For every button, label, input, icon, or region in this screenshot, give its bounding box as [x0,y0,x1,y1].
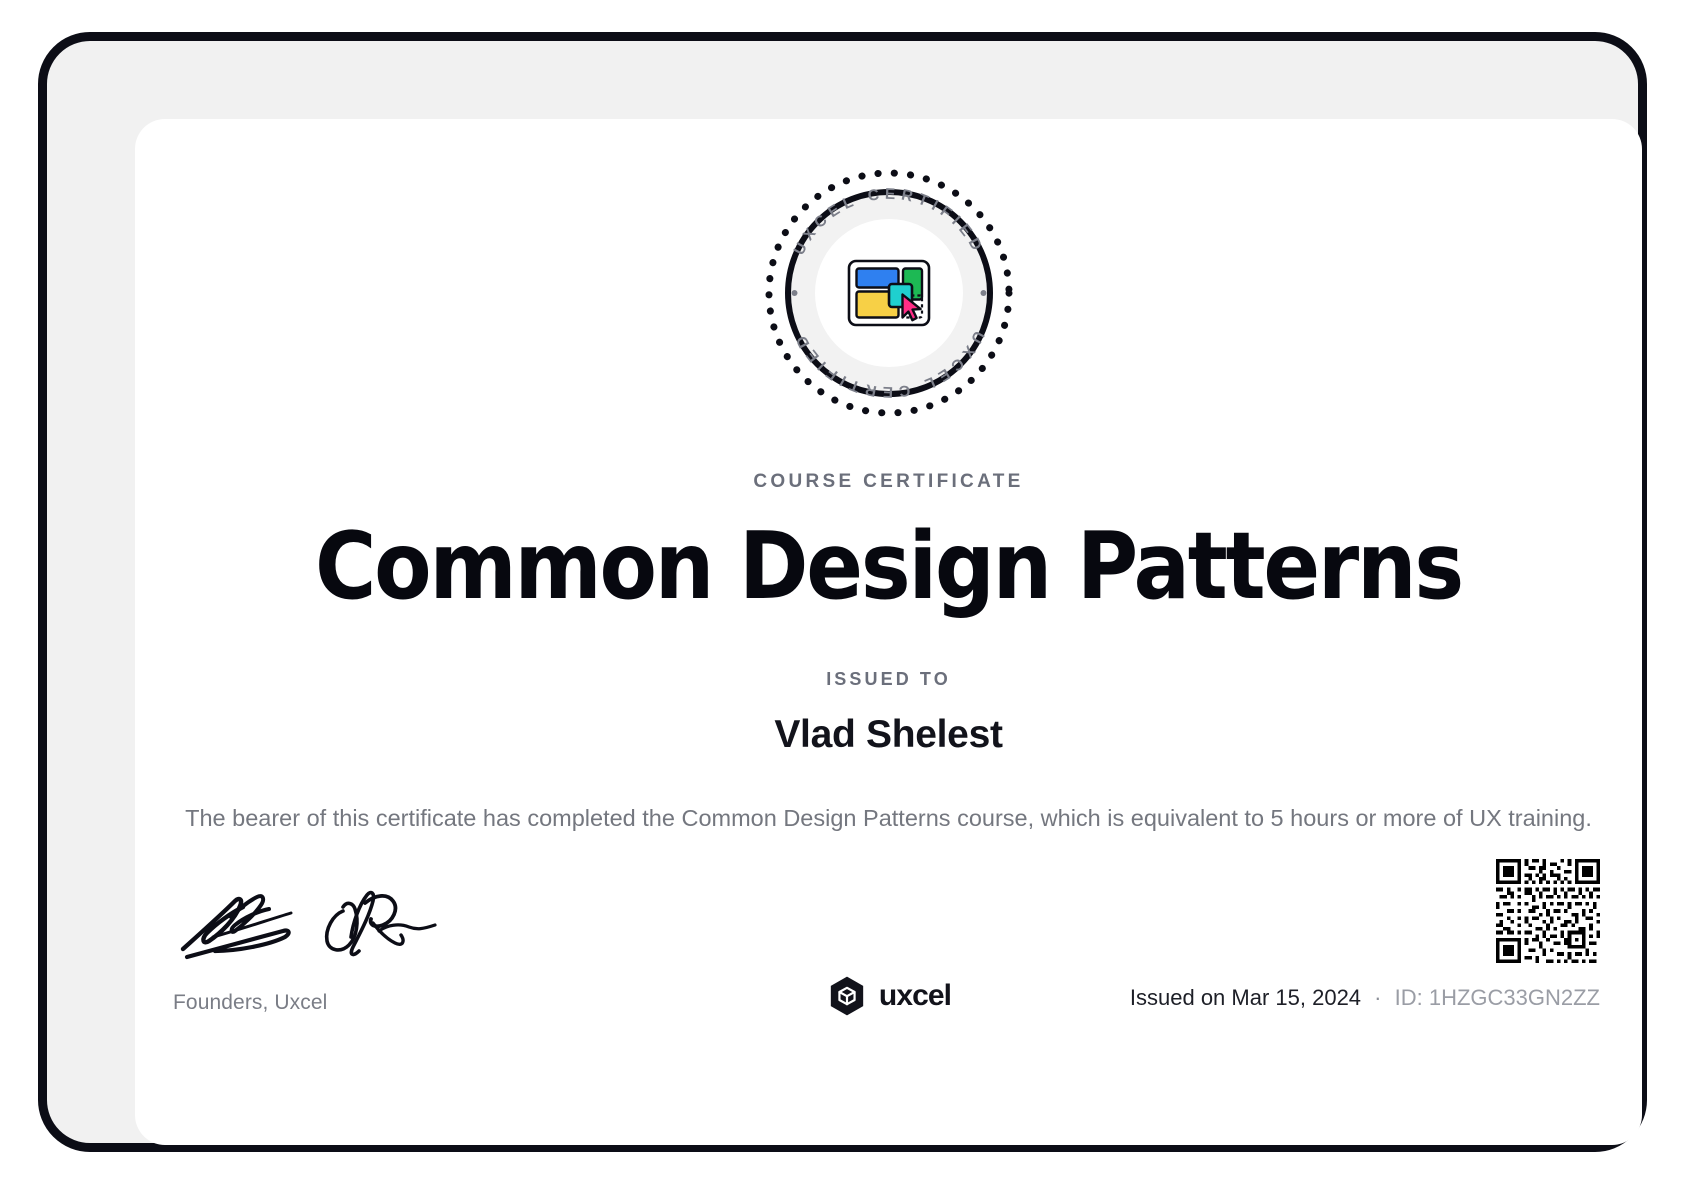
certificate-id: ID: 1HZGC33GN2ZZ [1395,985,1600,1010]
issued-on-date: Issued on Mar 15, 2024 [1130,985,1361,1010]
certificate-description: The bearer of this certificate has compl… [135,799,1642,837]
uxcel-certified-seal: UXCEL CERTIFIED UXCEL CERTIFIED [761,165,1017,421]
course-title: Common Design Patterns [135,517,1642,616]
recipient-name: Vlad Shelest [135,713,1642,757]
meta-separator: · [1367,985,1388,1010]
eyebrow-course-certificate: COURSE CERTIFICATE [135,471,1642,493]
seal-bullet-left [791,290,797,296]
eyebrow-issued-to: ISSUED TO [135,669,1642,690]
certificate-card: UXCEL CERTIFIED UXCEL CERTIFIED [135,119,1642,1145]
issue-meta: Issued on Mar 15, 2024 · ID: 1HZGC33GN2Z… [1130,985,1600,1011]
uxcel-wordmark: uxcel [879,979,951,1013]
certificate-outer-frame: UXCEL CERTIFIED UXCEL CERTIFIED [38,32,1647,1152]
certificate-seal-container: UXCEL CERTIFIED UXCEL CERTIFIED [135,165,1642,421]
uxcel-cube-hexagon-logo-icon [826,975,868,1017]
design-layout-cursor-icon [849,261,929,325]
seal-bullet-right [980,290,986,296]
signature-marks-icon [173,887,473,969]
verification-qr-code[interactable] [1496,859,1600,963]
